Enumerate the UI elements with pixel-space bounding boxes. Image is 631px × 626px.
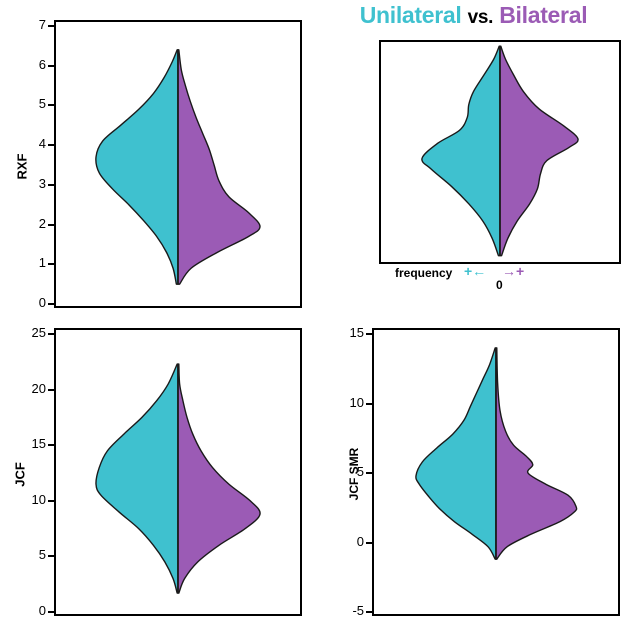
y-tick-mark xyxy=(48,224,54,226)
y-tick-mark xyxy=(48,184,54,186)
frequency-label: frequency xyxy=(395,266,452,280)
panel-jcf: JCF 0510152025 xyxy=(0,322,310,622)
y-tick-label: 5 xyxy=(330,464,364,479)
violin-half-left xyxy=(422,46,500,256)
y-tick-mark xyxy=(48,25,54,27)
panel-rxf: RXF 01234567 xyxy=(0,14,310,316)
y-tick-label: 0 xyxy=(330,534,364,549)
y-tick-label: 6 xyxy=(12,57,46,72)
right-arrow-icon: →+ xyxy=(502,263,524,279)
y-tick-mark xyxy=(366,542,372,544)
y-tick-label: 1 xyxy=(12,255,46,270)
y-tick-mark xyxy=(48,500,54,502)
y-tick-mark xyxy=(48,611,54,613)
y-tick-mark xyxy=(48,144,54,146)
y-tick-label: 4 xyxy=(12,136,46,151)
left-arrow-icon: +← xyxy=(464,263,486,279)
y-tick-mark xyxy=(48,303,54,305)
zero-tick-label: 0 xyxy=(496,278,503,292)
y-tick-label: 0 xyxy=(12,295,46,310)
y-tick-label: 5 xyxy=(12,547,46,562)
y-tick-mark xyxy=(48,389,54,391)
y-tick-label: 15 xyxy=(330,325,364,340)
y-tick-label: -5 xyxy=(330,603,364,618)
panel-jcf-smr: JCF SMR -5051015 xyxy=(316,322,631,622)
y-tick-label: 5 xyxy=(12,96,46,111)
y-tick-mark xyxy=(48,555,54,557)
y-tick-label: 0 xyxy=(12,603,46,618)
y-tick-label: 25 xyxy=(12,325,46,340)
violin-half-right xyxy=(496,348,577,559)
y-tick-label: 3 xyxy=(12,176,46,191)
y-tick-mark xyxy=(366,333,372,335)
y-tick-label: 7 xyxy=(12,17,46,32)
y-tick-mark xyxy=(48,104,54,106)
violin-half-right xyxy=(178,50,260,284)
y-tick-mark xyxy=(48,444,54,446)
y-tick-mark xyxy=(48,333,54,335)
panel-legend-schematic: Output Magnitude frequency +← →+ 0 xyxy=(316,14,631,316)
violin-half-left xyxy=(96,50,178,284)
violin-half-right xyxy=(500,46,578,256)
y-tick-mark xyxy=(366,403,372,405)
y-tick-label: 20 xyxy=(12,381,46,396)
y-tick-label: 10 xyxy=(330,395,364,410)
violin-half-left xyxy=(96,364,178,593)
y-tick-label: 15 xyxy=(12,436,46,451)
y-tick-mark xyxy=(366,611,372,613)
violin-half-left xyxy=(416,348,496,559)
y-tick-mark xyxy=(366,472,372,474)
violin-half-right xyxy=(178,364,260,593)
y-tick-mark xyxy=(48,263,54,265)
y-tick-label: 2 xyxy=(12,216,46,231)
y-tick-label: 10 xyxy=(12,492,46,507)
y-tick-mark xyxy=(48,65,54,67)
